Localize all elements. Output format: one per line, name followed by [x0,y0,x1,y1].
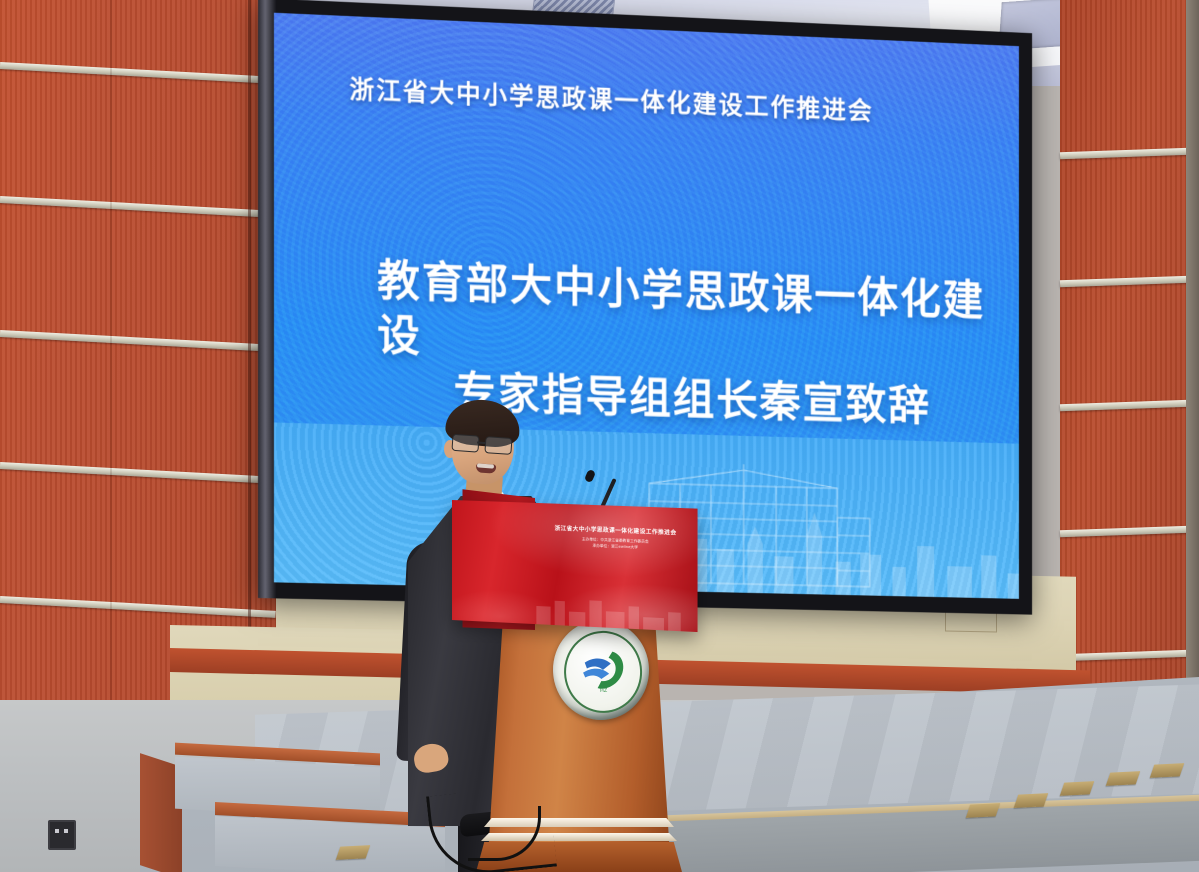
wall-right-wood-panel [1060,0,1199,760]
emblem-inner-ring: HZ [563,630,644,715]
power-outlet-icon [48,820,76,850]
eyeglasses-icon [452,434,517,454]
emblem-logo-icon: HZ [574,645,632,699]
wall-seam [110,0,112,790]
conference-hall-photo: Ψ [0,0,1199,872]
floor-socket-plate [1060,781,1095,796]
floor-socket-plate [336,845,371,860]
floor-socket-plate [1150,763,1185,778]
floor-socket-plate [966,803,1001,818]
floor-socket-plate [1106,771,1141,786]
svg-text:HZ: HZ [600,688,608,694]
floor-socket-plate [1014,793,1049,808]
screen-title-line-1: 教育部大中小学思政课一体化建设 [377,256,985,362]
podium-banner-panel: 浙江省大中小学思政课一体化建设工作推进会 主办单位：中共浙江省委教育工作委员会 … [452,500,698,632]
